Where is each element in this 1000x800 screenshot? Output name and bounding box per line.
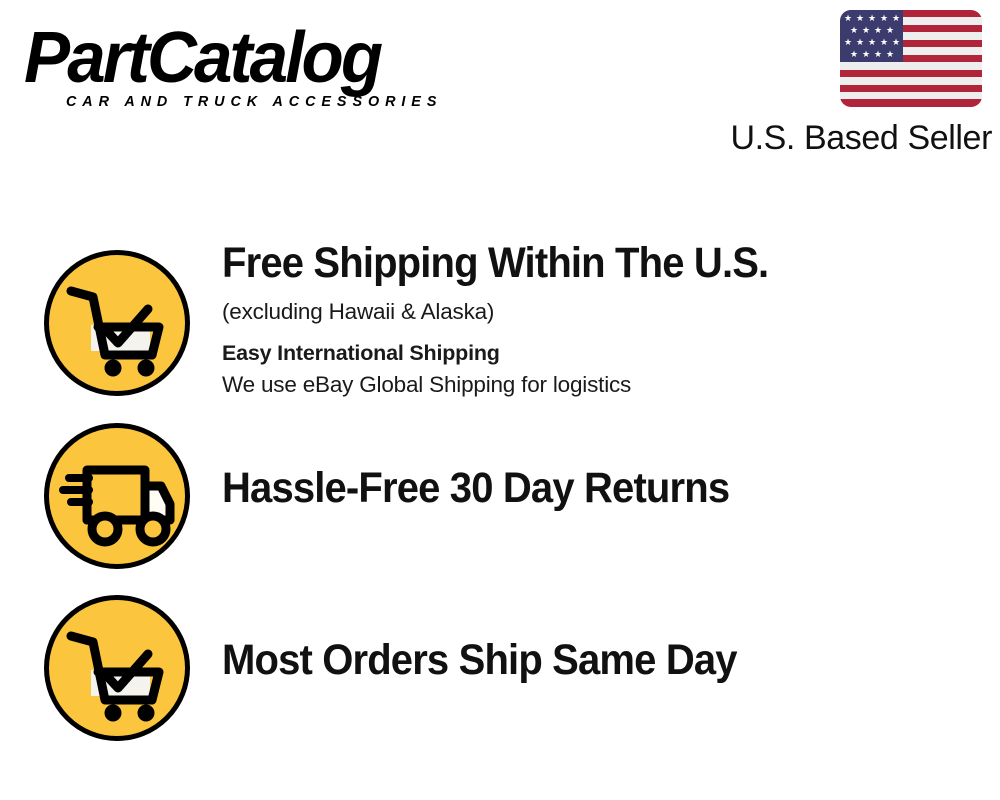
feature-row: Most Orders Ship Same Day xyxy=(0,583,1000,753)
shopping-cart-check-icon xyxy=(44,595,190,741)
spacer xyxy=(222,328,982,337)
flag-stripe xyxy=(840,99,982,106)
feature-text-block: Free Shipping Within The U.S. (excluding… xyxy=(222,238,982,401)
shopping-cart-check-icon xyxy=(44,250,190,396)
brand-logo[interactable]: PartCatalog CAR AND TRUCK ACCESSORIES xyxy=(24,22,494,117)
feature-headline: Most Orders Ship Same Day xyxy=(222,635,929,685)
flag-stripe xyxy=(840,70,982,77)
us-based-seller-label: U.S. Based Seller xyxy=(715,118,992,158)
brand-wordmark: PartCatalog xyxy=(24,22,380,94)
feature-text-block: Most Orders Ship Same Day xyxy=(222,583,982,685)
feature-text-block: Hassle-Free 30 Day Returns xyxy=(222,411,982,513)
feature-row: Hassle-Free 30 Day Returns xyxy=(0,411,1000,581)
feature-headline: Hassle-Free 30 Day Returns xyxy=(222,463,929,513)
flag-stripe xyxy=(840,85,982,92)
feature-row: Free Shipping Within The U.S. (excluding… xyxy=(0,238,1000,408)
feature-headline: Free Shipping Within The U.S. xyxy=(222,238,929,288)
delivery-truck-icon xyxy=(44,423,190,569)
feature-subline-bold: Easy International Shipping xyxy=(222,337,982,369)
feature-subline: (excluding Hawaii & Alaska) xyxy=(222,296,982,328)
brand-tagline: CAR AND TRUCK ACCESSORIES xyxy=(66,94,442,110)
us-based-seller-badge: ★ ★ ★ ★ ★ ★ ★ ★ ★ ★ ★ ★ ★ ★ ★ ★ ★ ★ U.S.… xyxy=(707,8,992,158)
us-flag-icon: ★ ★ ★ ★ ★ ★ ★ ★ ★ ★ ★ ★ ★ ★ ★ ★ ★ ★ xyxy=(840,10,982,107)
flag-canton: ★ ★ ★ ★ ★ ★ ★ ★ ★ ★ ★ ★ ★ ★ ★ ★ ★ ★ xyxy=(840,10,903,62)
feature-subline: We use eBay Global Shipping for logistic… xyxy=(222,369,982,401)
